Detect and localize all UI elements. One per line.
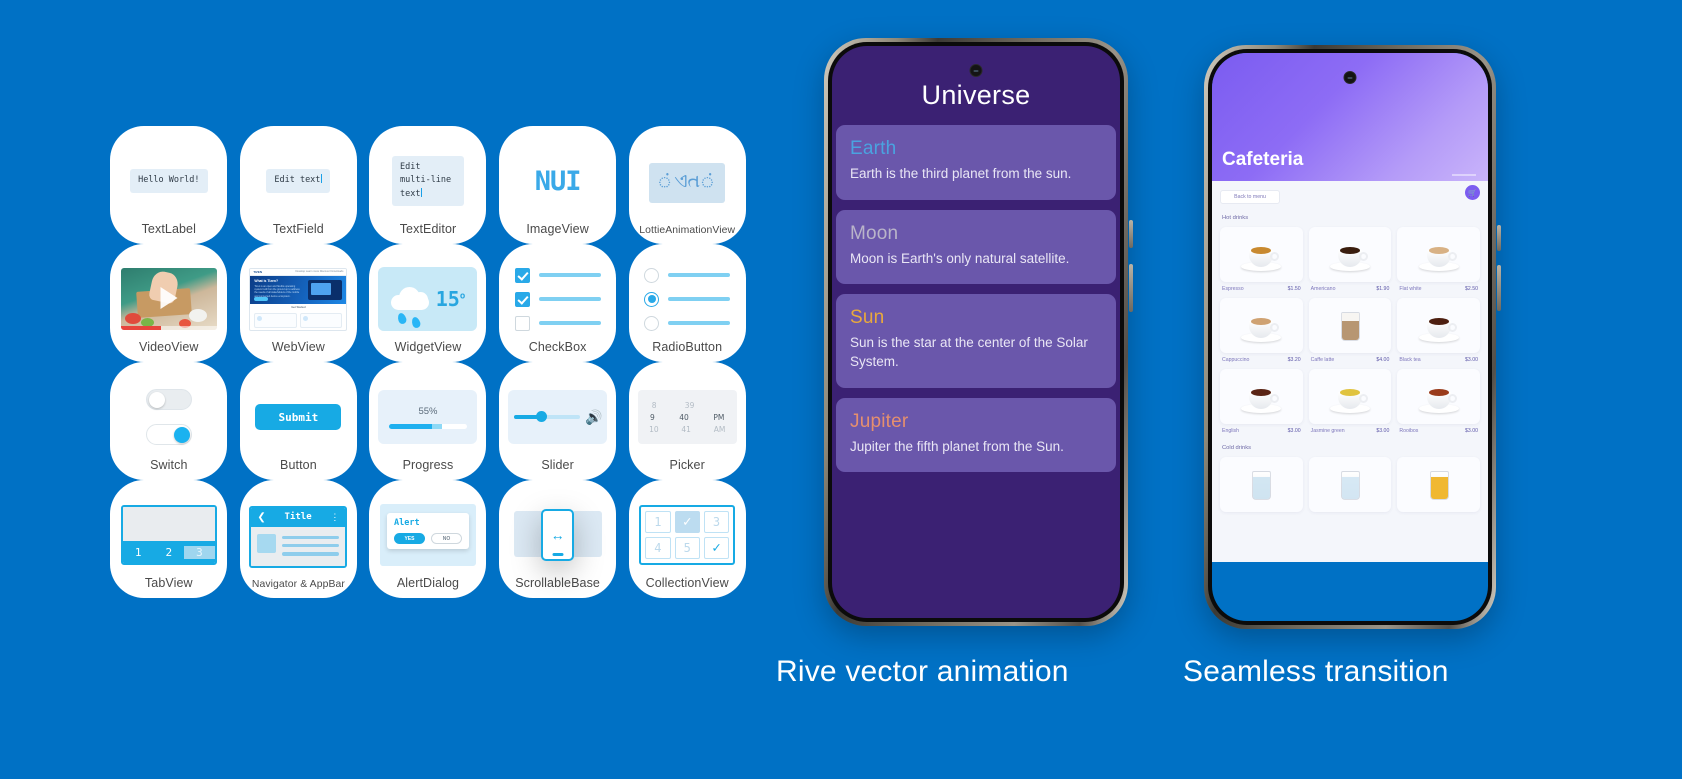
section-title-cold-drinks: Cold drinks bbox=[1222, 445, 1480, 451]
video-thumbnail[interactable] bbox=[121, 268, 217, 330]
widget-card-label: Navigator & AppBar bbox=[252, 579, 345, 590]
text-caret bbox=[321, 174, 322, 183]
list-item[interactable] bbox=[1220, 457, 1303, 512]
widget-card-label: Switch bbox=[150, 458, 187, 472]
planet-name: Jupiter bbox=[850, 411, 1102, 433]
widget-card-label: CollectionView bbox=[646, 576, 729, 590]
option-line bbox=[668, 273, 730, 278]
drink-name: Rooibos bbox=[1399, 428, 1418, 434]
planet-name: Earth bbox=[850, 138, 1102, 160]
list-item[interactable] bbox=[1309, 457, 1392, 512]
list-item[interactable]: Flat white$2.50 bbox=[1397, 227, 1480, 292]
drink-name: Flat white bbox=[1399, 286, 1421, 292]
widget-card-picker[interactable]: 839 940PM 1041AM Picker bbox=[629, 362, 746, 480]
checkbox-checked[interactable] bbox=[515, 268, 530, 283]
widget-card-label: Progress bbox=[403, 458, 454, 472]
web-card-1[interactable] bbox=[254, 313, 297, 328]
content-thumb bbox=[257, 534, 276, 553]
list-item[interactable]: Rooibos$3.00 bbox=[1397, 369, 1480, 434]
widget-card-webview[interactable]: TIZENDevelop Learn more Discover Downloa… bbox=[240, 244, 357, 362]
weather-widget[interactable]: 15o bbox=[378, 267, 477, 331]
planet-desc: Sun is the star at the center of the Sol… bbox=[850, 334, 1102, 371]
volume-icon: 🔊 bbox=[585, 410, 601, 424]
alert-title: Alert bbox=[394, 518, 462, 528]
drink-name: Espresso bbox=[1222, 286, 1244, 292]
option-line bbox=[539, 321, 601, 326]
collection-cell[interactable]: 5 bbox=[675, 537, 700, 559]
radio-unselected[interactable] bbox=[644, 316, 659, 331]
drink-price: $4.00 bbox=[1376, 357, 1389, 363]
rain-cloud-icon bbox=[391, 287, 429, 311]
widget-card-switch[interactable]: Switch bbox=[110, 362, 227, 480]
progress-demo: 55% bbox=[378, 390, 477, 444]
widget-card-label: Picker bbox=[670, 458, 705, 472]
drink-name: English bbox=[1222, 428, 1239, 434]
planet-desc: Jupiter the fifth planet from the Sun. bbox=[850, 438, 1102, 457]
widget-card-textfield[interactable]: Edit text TextField bbox=[240, 126, 357, 244]
list-item[interactable]: Cappuccino$3.20 bbox=[1220, 298, 1303, 363]
cafeteria-content[interactable]: 🛒 Back to menu Hot drinks Espresso$1.50 … bbox=[1212, 181, 1488, 562]
drink-price: $3.00 bbox=[1288, 428, 1301, 434]
widget-card-label: CheckBox bbox=[529, 340, 587, 354]
list-item[interactable]: Moon Moon is Earth's only natural satell… bbox=[836, 210, 1116, 285]
widget-gallery-grid: Hello World! TextLabel Edit text TextFie… bbox=[104, 126, 752, 598]
tab-2[interactable]: 2 bbox=[153, 546, 184, 559]
list-item[interactable]: Earth Earth is the third planet from the… bbox=[836, 125, 1116, 200]
web-brand: TIZEN bbox=[253, 270, 262, 274]
tabview-demo[interactable]: 1 2 3 bbox=[121, 505, 217, 565]
cold-drinks-grid[interactable] bbox=[1220, 457, 1480, 512]
widget-card-slider[interactable]: 🔊 Slider bbox=[499, 362, 616, 480]
back-to-menu-button[interactable]: Back to menu bbox=[1220, 190, 1280, 204]
cart-icon[interactable]: 🛒 bbox=[1465, 185, 1480, 200]
radio-selected[interactable] bbox=[644, 292, 659, 307]
list-item[interactable]: Black tea$3.00 bbox=[1397, 298, 1480, 363]
widget-card-scrollablebase[interactable]: ↔ ScrollableBase bbox=[499, 480, 616, 598]
poster-stage: Hello World! TextLabel Edit text TextFie… bbox=[0, 0, 1682, 779]
widget-card-navigator[interactable]: ❮ Title ⋮ Navigator & AppBar bbox=[240, 480, 357, 598]
widget-card-widgetview[interactable]: 15o WidgetView bbox=[369, 244, 486, 362]
universe-list[interactable]: Earth Earth is the third planet from the… bbox=[832, 125, 1120, 472]
progress-value-label: 55% bbox=[418, 406, 437, 417]
drink-name: Americano bbox=[1311, 286, 1336, 292]
widget-card-label: WidgetView bbox=[395, 340, 462, 354]
web-card-2[interactable] bbox=[300, 313, 343, 328]
slider-handle[interactable] bbox=[536, 411, 547, 422]
alert-no-button[interactable]: NO bbox=[431, 533, 462, 544]
drink-price: $1.90 bbox=[1376, 286, 1389, 292]
drink-price: $1.50 bbox=[1288, 286, 1301, 292]
more-vertical-icon[interactable]: ⋮ bbox=[330, 512, 339, 523]
radio-unselected[interactable] bbox=[644, 268, 659, 283]
widget-card-label: TabView bbox=[145, 576, 193, 590]
list-item[interactable]: Americano$1.90 bbox=[1309, 227, 1392, 292]
phone-mockup-universe: Universe Earth Earth is the third planet… bbox=[824, 38, 1128, 626]
collection-cell[interactable]: 3 bbox=[704, 511, 729, 533]
widget-card-progress[interactable]: 55% Progress bbox=[369, 362, 486, 480]
slider-demo[interactable]: 🔊 bbox=[508, 390, 607, 444]
play-icon[interactable] bbox=[160, 287, 177, 309]
textfield-demo: Edit text bbox=[266, 169, 330, 193]
widget-card-label: TextLabel bbox=[142, 222, 196, 236]
widget-card-label: TextField bbox=[273, 222, 324, 236]
widget-card-label: ScrollableBase bbox=[515, 576, 600, 590]
horizontal-arrow-icon: ↔ bbox=[551, 528, 565, 542]
list-item[interactable]: Caffe latte$4.00 bbox=[1309, 298, 1392, 363]
web-nav[interactable]: Develop Learn more Discover Downloads bbox=[296, 270, 344, 273]
widget-card-checkbox[interactable]: CheckBox bbox=[499, 244, 616, 362]
collection-cell[interactable]: 1 bbox=[645, 511, 670, 533]
drink-price: $3.00 bbox=[1376, 428, 1389, 434]
switch-off[interactable] bbox=[146, 389, 192, 410]
video-progress-bar[interactable] bbox=[121, 326, 217, 330]
widget-card-texteditor[interactable]: Edit multi-line text TextEditor bbox=[369, 126, 486, 244]
tab-3[interactable]: 3 bbox=[184, 546, 215, 559]
navigator-demo[interactable]: ❮ Title ⋮ bbox=[249, 506, 347, 568]
widget-card-label: AlertDialog bbox=[397, 576, 459, 590]
option-line bbox=[539, 273, 601, 278]
universe-app-title: Universe bbox=[832, 46, 1120, 125]
tab-1[interactable]: 1 bbox=[123, 546, 154, 559]
widget-card-textlabel[interactable]: Hello World! TextLabel bbox=[110, 126, 227, 244]
lottie-icon: ்ଏત் bbox=[649, 163, 725, 203]
list-item[interactable]: Jupiter Jupiter the fifth planet from th… bbox=[836, 398, 1116, 473]
widget-card-label: Button bbox=[280, 458, 317, 472]
drink-price: $2.50 bbox=[1465, 286, 1478, 292]
drink-name: Black tea bbox=[1399, 357, 1420, 363]
collection-cell-checked[interactable]: ✓ bbox=[675, 511, 700, 533]
widget-card-radiobutton[interactable]: RadioButton bbox=[629, 244, 746, 362]
option-line bbox=[668, 297, 730, 302]
submit-button[interactable]: Submit bbox=[255, 404, 341, 430]
widget-card-tabview[interactable]: 1 2 3 TabView bbox=[110, 480, 227, 598]
appbar-title: Title bbox=[285, 512, 312, 522]
planet-desc: Earth is the third planet from the sun. bbox=[850, 165, 1102, 184]
web-hero-image bbox=[308, 280, 342, 300]
drink-price: $3.20 bbox=[1288, 357, 1301, 363]
drink-price: $3.00 bbox=[1465, 357, 1478, 363]
web-cta-button[interactable] bbox=[254, 297, 268, 301]
picker-demo[interactable]: 839 940PM 1041AM bbox=[638, 390, 737, 444]
text-caret bbox=[421, 188, 422, 197]
drink-name: Jasmine green bbox=[1311, 428, 1345, 434]
list-item[interactable]: Sun Sun is the star at the center of the… bbox=[836, 294, 1116, 387]
alert-yes-button[interactable]: YES bbox=[394, 533, 425, 544]
checkbox-unchecked[interactable] bbox=[515, 316, 530, 331]
list-item[interactable]: Jasmine green$3.00 bbox=[1309, 369, 1392, 434]
universe-app-screen[interactable]: Universe Earth Earth is the third planet… bbox=[832, 46, 1120, 618]
widget-card-lottieanimationview[interactable]: ்ଏત் LottieAnimationView bbox=[629, 126, 746, 244]
caption-right: Seamless transition bbox=[1183, 655, 1449, 689]
textlabel-demo: Hello World! bbox=[130, 169, 207, 193]
scrollable-demo[interactable]: ↔ bbox=[510, 505, 606, 565]
planet-name: Moon bbox=[850, 223, 1102, 245]
widget-card-imageview[interactable]: NUI ImageView bbox=[499, 126, 616, 244]
planet-name: Sun bbox=[850, 307, 1102, 329]
widget-card-label: VideoView bbox=[139, 340, 199, 354]
widget-card-label: WebView bbox=[272, 340, 325, 354]
collection-cell-checked[interactable]: ✓ bbox=[704, 537, 729, 559]
widget-card-label: Slider bbox=[541, 458, 574, 472]
list-item[interactable]: Espresso$1.50 bbox=[1220, 227, 1303, 292]
list-item[interactable] bbox=[1397, 457, 1480, 512]
cafeteria-app-title: Cafeteria bbox=[1222, 149, 1303, 171]
hot-drinks-grid[interactable]: Espresso$1.50 Americano$1.90 Flat white$… bbox=[1220, 227, 1480, 434]
alertdialog-demo: Alert YES NO bbox=[380, 504, 476, 566]
planet-desc: Moon is Earth's only natural satellite. bbox=[850, 250, 1102, 269]
phone-mockup-cafeteria: Cafeteria 🛒 Back to menu Hot drinks Espr… bbox=[1204, 45, 1496, 629]
cafeteria-app-screen[interactable]: Cafeteria 🛒 Back to menu Hot drinks Espr… bbox=[1212, 53, 1488, 621]
front-camera-icon bbox=[1344, 71, 1357, 84]
option-line bbox=[668, 321, 730, 326]
temperature-value: 15o bbox=[436, 287, 466, 311]
widget-card-label: LottieAnimationView bbox=[639, 225, 735, 236]
front-camera-icon bbox=[970, 64, 983, 77]
widget-card-collectionview[interactable]: 1 ✓ 3 4 5 ✓ CollectionView bbox=[629, 480, 746, 598]
collectionview-demo[interactable]: 1 ✓ 3 4 5 ✓ bbox=[639, 505, 735, 565]
hero-underline bbox=[1452, 174, 1476, 176]
section-title-hot-drinks: Hot drinks bbox=[1222, 215, 1480, 221]
drink-price: $3.00 bbox=[1465, 428, 1478, 434]
widget-card-alertdialog[interactable]: Alert YES NO AlertDialog bbox=[369, 480, 486, 598]
switch-on[interactable] bbox=[146, 424, 192, 445]
option-line bbox=[539, 297, 601, 302]
list-item[interactable]: English$3.00 bbox=[1220, 369, 1303, 434]
chevron-left-icon[interactable]: ❮ bbox=[257, 512, 265, 523]
widget-card-label: RadioButton bbox=[652, 340, 722, 354]
caption-left: Rive vector animation bbox=[776, 655, 1069, 689]
widget-card-videoview[interactable]: VideoView bbox=[110, 244, 227, 362]
nui-logo: NUI bbox=[535, 166, 581, 197]
slider-track[interactable] bbox=[514, 415, 580, 419]
progress-track bbox=[389, 424, 467, 429]
widget-card-label: ImageView bbox=[526, 222, 589, 236]
collection-cell[interactable]: 4 bbox=[645, 537, 670, 559]
drink-name: Cappuccino bbox=[1222, 357, 1249, 363]
webview-demo[interactable]: TIZENDevelop Learn more Discover Downloa… bbox=[249, 268, 347, 331]
checkbox-checked[interactable] bbox=[515, 292, 530, 307]
drink-name: Caffe latte bbox=[1311, 357, 1335, 363]
widget-card-button[interactable]: Submit Button bbox=[240, 362, 357, 480]
texteditor-demo: Edit multi-line text bbox=[392, 156, 464, 207]
widget-card-label: TextEditor bbox=[400, 222, 457, 236]
